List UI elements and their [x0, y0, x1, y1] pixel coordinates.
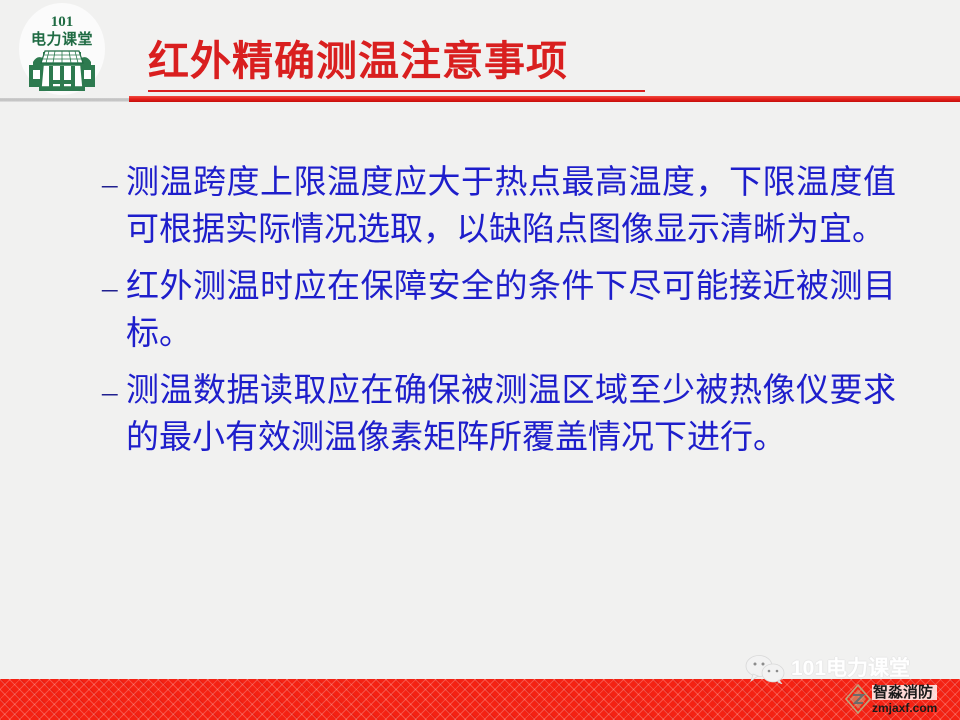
svg-text:电力课堂: 电力课堂 [31, 30, 93, 48]
course-logo: 101 电力课堂 [13, 2, 112, 97]
bullet-marker-icon: – [102, 368, 124, 415]
watermark-url: zmjaxf.com [872, 702, 937, 714]
slide-canvas: 101 电力课堂 [0, 0, 960, 720]
wechat-icon [744, 654, 786, 684]
bullet-list: – 测温跨度上限温度应大于热点最高温度，下限温度值可根据实际情况选取，以缺陷点图… [96, 160, 896, 472]
svg-text:101: 101 [51, 14, 74, 30]
bullet-marker-icon: – [102, 160, 124, 207]
slide-header: 101 电力课堂 [0, 0, 960, 105]
watermark: 智淼消防 zmjaxf.com [845, 678, 960, 720]
title-underline [148, 90, 645, 92]
list-item: – 测温跨度上限温度应大于热点最高温度，下限温度值可根据实际情况选取，以缺陷点图… [96, 160, 896, 254]
watermark-text: 智淼消防 zmjaxf.com [872, 685, 937, 714]
list-item-text: 测温数据读取应在确保被测温区域至少被热像仪要求的最小有效测温像素矩阵所覆盖情况下… [126, 373, 896, 456]
list-item: – 红外测温时应在保障安全的条件下尽可能接近被测目标。 [96, 264, 896, 358]
watermark-logo-icon [845, 684, 871, 714]
header-divider-red [129, 96, 960, 102]
list-item: – 测温数据读取应在确保被测温区域至少被热像仪要求的最小有效测温像素矩阵所覆盖情… [96, 368, 896, 462]
watermark-brand: 智淼消防 [872, 685, 937, 700]
header-divider-grey [0, 98, 129, 102]
list-item-text: 红外测温时应在保障安全的条件下尽可能接近被测目标。 [126, 269, 896, 352]
page-title: 红外精确测温注意事项 [148, 38, 568, 85]
list-item-text: 测温跨度上限温度应大于热点最高温度，下限温度值可根据实际情况选取，以缺陷点图像显… [126, 165, 896, 248]
bullet-marker-icon: – [102, 264, 124, 311]
